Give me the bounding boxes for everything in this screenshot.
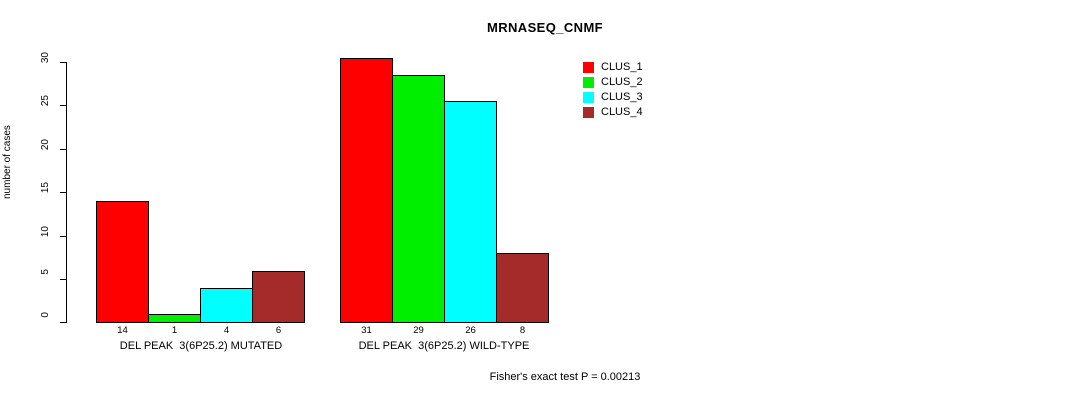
fisher-test-annotation: Fisher's exact test P = 0.00213 bbox=[0, 371, 1090, 383]
group-label-mutated: DEL PEAK 3(6P25.2) MUTATED bbox=[76, 341, 326, 352]
y-axis-label: number of cases bbox=[2, 185, 16, 199]
bar-value-group1-clus3: 4 bbox=[200, 326, 253, 336]
legend-item-clus-2[interactable]: CLUS_2 bbox=[583, 75, 643, 89]
bar-group2-clus4[interactable] bbox=[496, 253, 549, 323]
plot-area: number of cases 0 5 10 15 20 25 30 14 1 … bbox=[0, 0, 1090, 400]
y-tick-label-30: 30 bbox=[41, 52, 51, 72]
y-tick-0 bbox=[60, 322, 66, 323]
legend-label-clus-2: CLUS_2 bbox=[601, 77, 643, 88]
y-tick-label-0: 0 bbox=[41, 312, 51, 332]
y-tick-15 bbox=[60, 192, 66, 193]
bar-group1-clus4[interactable] bbox=[252, 271, 305, 323]
y-tick-label-5: 5 bbox=[41, 269, 51, 289]
y-tick-label-20: 20 bbox=[41, 139, 51, 159]
y-tick-label-15: 15 bbox=[41, 182, 51, 202]
legend-swatch-icon-clus-4 bbox=[583, 107, 594, 118]
bar-value-group1-clus2: 1 bbox=[148, 326, 201, 336]
bar-value-group2-clus3: 26 bbox=[444, 326, 497, 336]
bar-value-group2-clus1: 31 bbox=[340, 326, 393, 336]
bar-group2-clus3[interactable] bbox=[444, 101, 497, 323]
bar-value-group1-clus4: 6 bbox=[252, 326, 305, 336]
legend-label-clus-4: CLUS_4 bbox=[601, 107, 643, 118]
y-axis-line bbox=[66, 62, 67, 323]
y-tick-label-25: 25 bbox=[41, 95, 51, 115]
y-tick-5 bbox=[60, 279, 66, 280]
legend-label-clus-1: CLUS_1 bbox=[601, 62, 643, 73]
y-tick-25 bbox=[60, 105, 66, 106]
bar-value-group2-clus2: 29 bbox=[392, 326, 445, 336]
group-label-wildtype: DEL PEAK 3(6P25.2) WILD-TYPE bbox=[319, 341, 569, 352]
bar-value-group2-clus4: 8 bbox=[496, 326, 549, 336]
bar-group2-clus1[interactable] bbox=[340, 58, 393, 323]
bar-group1-clus1[interactable] bbox=[96, 201, 149, 323]
y-tick-20 bbox=[60, 149, 66, 150]
y-tick-10 bbox=[60, 236, 66, 237]
legend-swatch-icon-clus-3 bbox=[583, 92, 594, 103]
legend-item-clus-3[interactable]: CLUS_3 bbox=[583, 90, 643, 104]
fisher-test-text: Fisher's exact test P = 0.00213 bbox=[490, 371, 641, 383]
legend-swatch-icon-clus-1 bbox=[583, 62, 594, 73]
chart-legend: CLUS_1 CLUS_2 CLUS_3 CLUS_4 bbox=[583, 60, 643, 120]
legend-item-clus-1[interactable]: CLUS_1 bbox=[583, 60, 643, 74]
legend-item-clus-4[interactable]: CLUS_4 bbox=[583, 105, 643, 119]
bar-group2-clus2[interactable] bbox=[392, 75, 445, 323]
legend-label-clus-3: CLUS_3 bbox=[601, 92, 643, 103]
legend-swatch-icon-clus-2 bbox=[583, 77, 594, 88]
y-tick-30 bbox=[60, 62, 66, 63]
bar-group1-clus2[interactable] bbox=[148, 314, 201, 323]
bar-group1-clus3[interactable] bbox=[200, 288, 253, 323]
y-tick-label-10: 10 bbox=[41, 226, 51, 246]
bar-value-group1-clus1: 14 bbox=[96, 326, 149, 336]
